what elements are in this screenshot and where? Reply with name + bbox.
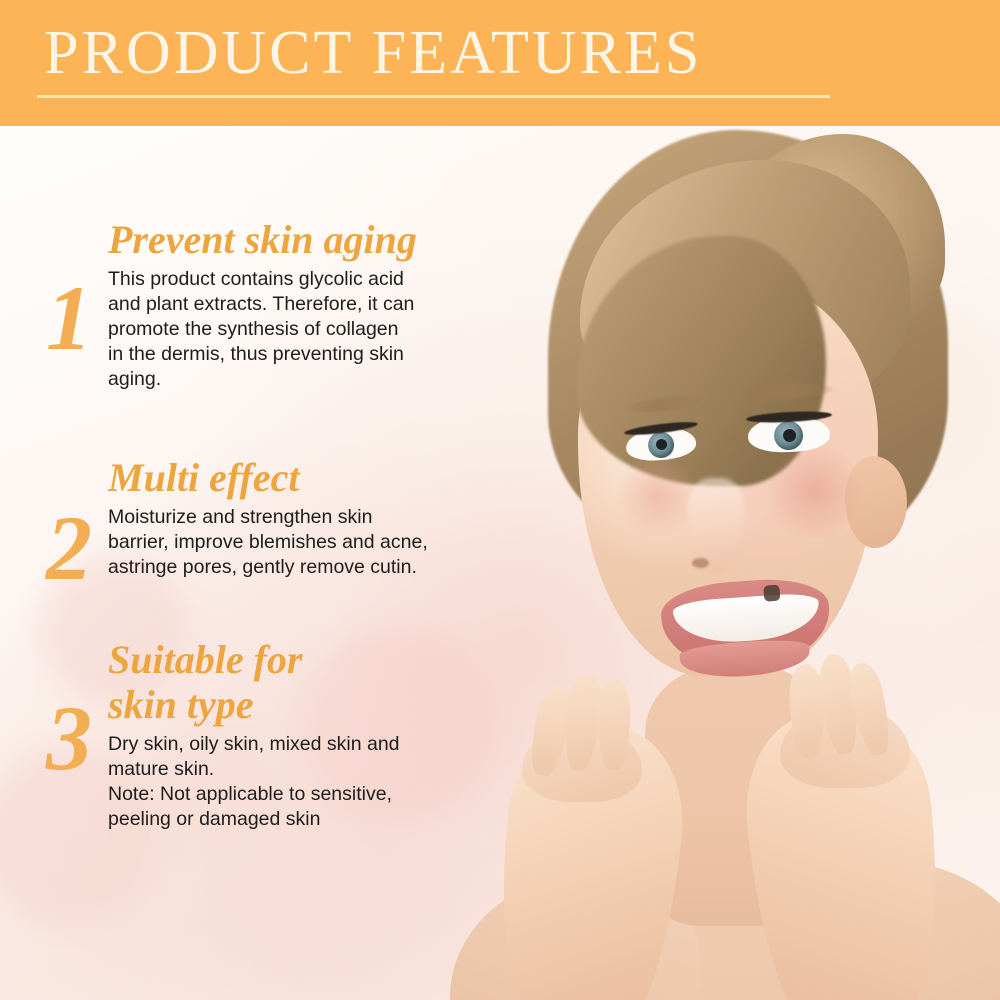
feature-title: Multi effect bbox=[108, 456, 428, 501]
nostril bbox=[692, 558, 709, 568]
feature-text: Moisturize and strengthen skin barrier, … bbox=[108, 505, 428, 580]
feature-number: 3 bbox=[30, 634, 108, 784]
header-band: PRODUCT FEATURES bbox=[0, 0, 1000, 126]
feature-title: Suitable for skin type bbox=[108, 638, 400, 728]
feature-title: Prevent skin aging bbox=[108, 218, 417, 263]
cheek-right bbox=[760, 446, 870, 538]
feature-body: Prevent skin aging This product contains… bbox=[108, 214, 417, 392]
feature-item-3: 3 Suitable for skin type Dry skin, oily … bbox=[30, 634, 400, 832]
feature-body: Multi effect Moisturize and strengthen s… bbox=[108, 452, 428, 580]
feature-text: This product contains glycolic acid and … bbox=[108, 267, 417, 392]
teeth bbox=[672, 592, 821, 646]
feature-item-2: 2 Multi effect Moisturize and strengthen… bbox=[30, 452, 428, 594]
feature-number: 2 bbox=[30, 452, 108, 594]
finger bbox=[598, 678, 630, 770]
bokeh-circle bbox=[230, 826, 390, 986]
model-portrait bbox=[430, 126, 1000, 1000]
feature-body: Suitable for skin type Dry skin, oily sk… bbox=[108, 634, 400, 832]
feature-item-1: 1 Prevent skin aging This product contai… bbox=[30, 214, 417, 392]
teeth-gap bbox=[763, 585, 780, 602]
feature-text: Dry skin, oily skin, mixed skin and matu… bbox=[108, 732, 400, 832]
page-title: PRODUCT FEATURES bbox=[44, 18, 702, 89]
feature-number: 1 bbox=[30, 214, 108, 364]
product-features-infographic: PRODUCT FEATURES 1 Prevent skin aging Th… bbox=[0, 0, 1000, 1000]
header-underline bbox=[37, 95, 830, 98]
